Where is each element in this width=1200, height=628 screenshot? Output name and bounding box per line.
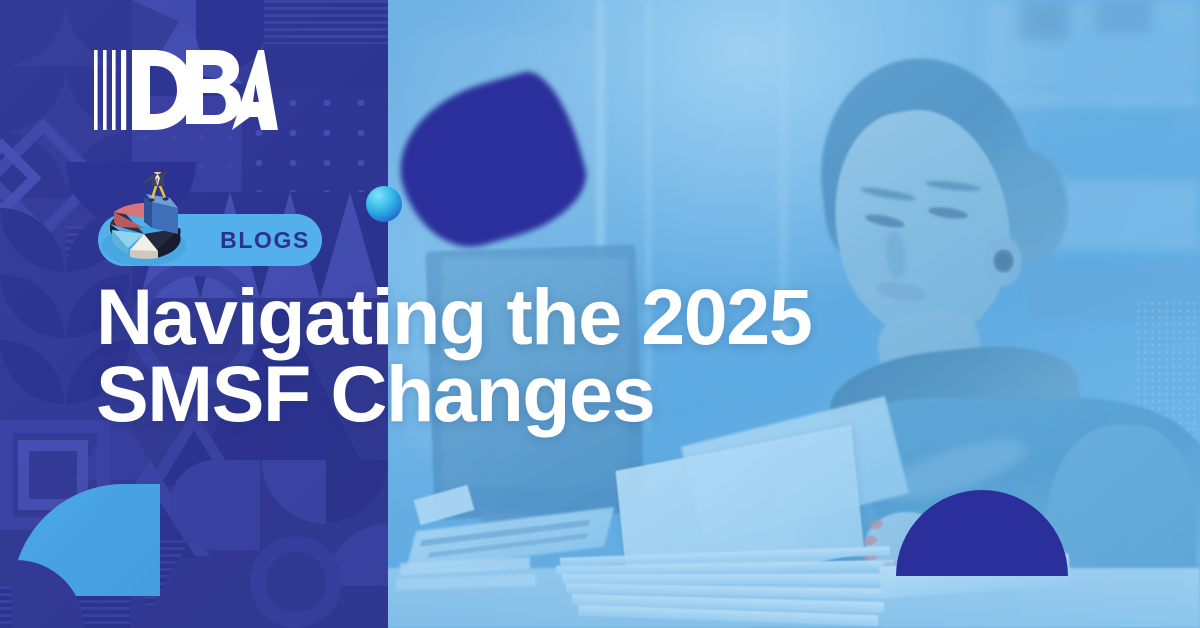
- headline-line-1: Navigating the 2025: [96, 278, 1136, 355]
- headline-line-2: SMSF Changes: [96, 355, 1136, 432]
- dba-logo[interactable]: [92, 44, 278, 136]
- gradient-sphere-shape: [366, 186, 402, 222]
- pie-chart-trophy-icon: [94, 172, 198, 272]
- blog-banner: BLOGS Navigating the 2025 SMSF Changes: [0, 0, 1200, 628]
- badge-label: BLOGS: [210, 214, 320, 266]
- page-title: Navigating the 2025 SMSF Changes: [96, 278, 1136, 433]
